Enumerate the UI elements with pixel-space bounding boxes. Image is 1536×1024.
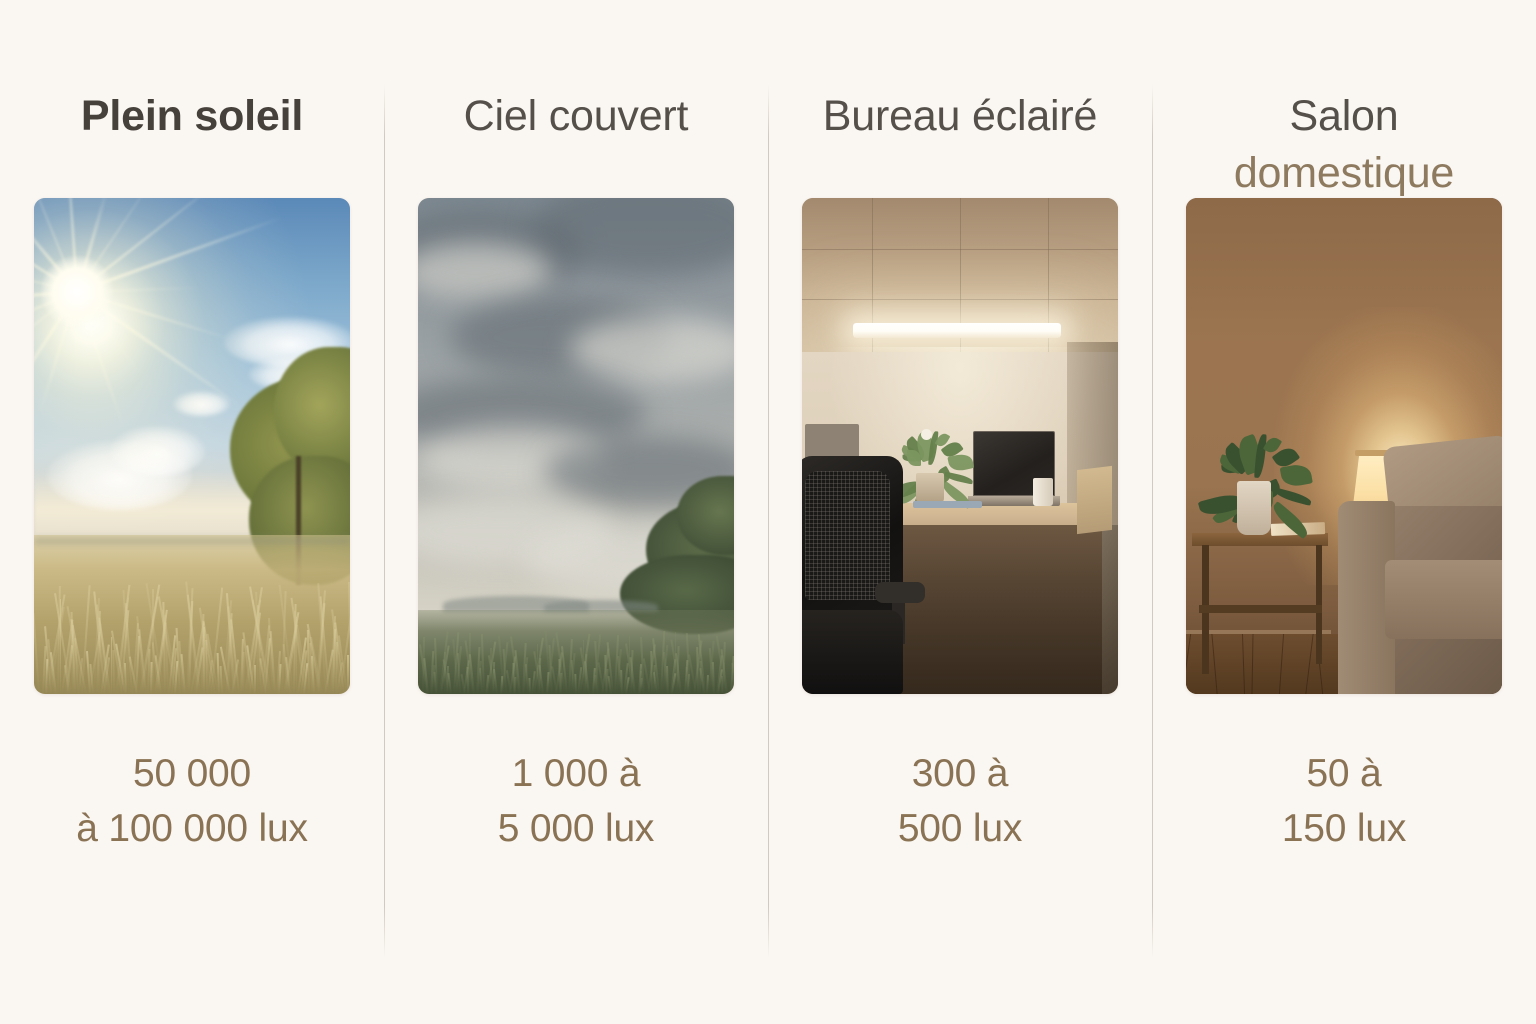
floor-plank-line xyxy=(1279,634,1284,694)
cloud-shape xyxy=(418,243,551,303)
heading-line-1: Bureau éclairé xyxy=(823,92,1097,140)
value-line-2: 5 000 lux xyxy=(498,801,655,856)
grass-blade xyxy=(574,674,576,694)
floor-plank-line xyxy=(1212,634,1218,694)
photo-bureau-eclaire xyxy=(802,198,1118,694)
grass-field xyxy=(418,610,734,694)
floor-plank-line xyxy=(1242,634,1245,694)
value-line-1: 300 à xyxy=(912,752,1009,795)
cloud-shape xyxy=(570,317,734,381)
grass-blade xyxy=(34,666,36,694)
grass-blade xyxy=(434,638,437,694)
grass-blade xyxy=(620,670,622,694)
chair-armrest xyxy=(875,582,926,603)
column-salon-domestique: Salon domestique xyxy=(1152,0,1536,1024)
floor-plank-line xyxy=(1186,634,1191,694)
heading-line-1: Salon xyxy=(1290,92,1399,140)
value-line-2: 150 lux xyxy=(1282,801,1406,856)
fluorescent-light-icon xyxy=(853,323,1062,337)
chair-seat xyxy=(802,610,903,694)
photo-plein-soleil xyxy=(34,198,350,694)
lux-value-bureau-eclaire: 300 à 500 lux xyxy=(890,746,1030,857)
grass-blade xyxy=(528,678,530,694)
column-ciel-couvert: Ciel couvert xyxy=(384,0,768,1024)
heading-line-1: Ciel couvert xyxy=(464,92,689,140)
lux-comparison-infographic: Plein soleil xyxy=(0,0,1536,1024)
grass-blade xyxy=(60,599,62,694)
distant-hills xyxy=(34,537,350,545)
value-line-1: 50 à xyxy=(1306,752,1381,795)
value-line-1: 1 000 à xyxy=(512,752,641,795)
column-heading-ciel-couvert: Ciel couvert xyxy=(384,88,768,198)
value-line-2: à 100 000 lux xyxy=(76,801,308,856)
value-line-2: 500 lux xyxy=(898,801,1022,856)
office-scene xyxy=(802,198,1118,694)
value-line-1: 50 000 xyxy=(133,752,251,795)
column-plein-soleil: Plein soleil xyxy=(0,0,384,1024)
floor-plank-line xyxy=(1306,634,1314,694)
sofa-seat xyxy=(1385,560,1502,639)
heading-line-1: Plein soleil xyxy=(81,92,303,140)
sunny-sky-scene xyxy=(34,198,350,694)
photo-salon-domestique xyxy=(1186,198,1502,694)
lux-value-ciel-couvert: 1 000 à 5 000 lux xyxy=(490,746,663,857)
overcast-sky-scene xyxy=(418,198,734,694)
grass-blade xyxy=(712,662,715,694)
floor-plank-line xyxy=(1252,634,1254,694)
column-heading-bureau-eclaire: Bureau éclairé xyxy=(768,88,1152,198)
grass-field xyxy=(34,535,350,694)
plant-leaf xyxy=(907,450,921,466)
photo-ciel-couvert xyxy=(418,198,734,694)
grass-blade xyxy=(418,678,419,694)
grass-blade xyxy=(347,655,349,694)
living-room-scene xyxy=(1186,198,1502,694)
grass-blade xyxy=(469,654,475,694)
side-table-shelf xyxy=(1199,605,1322,613)
sun-icon xyxy=(40,255,114,329)
column-heading-plein-soleil: Plein soleil xyxy=(0,88,384,198)
lux-value-salon-domestique: 50 à 150 lux xyxy=(1274,746,1414,857)
plant-pot xyxy=(1237,481,1272,536)
heading-line-2: domestique xyxy=(1164,145,1524,202)
grass-blade xyxy=(34,613,40,694)
grass-blade xyxy=(152,589,154,694)
chair-mesh-back xyxy=(805,471,890,600)
grass-blade xyxy=(666,666,668,694)
coffee-mug-icon xyxy=(1033,478,1054,506)
grass-blade xyxy=(515,650,521,694)
column-heading-salon-domestique: Salon domestique xyxy=(1152,88,1536,198)
white-flower xyxy=(921,429,932,440)
lux-value-plein-soleil: 50 000 à 100 000 lux xyxy=(68,746,316,857)
notebook xyxy=(913,501,983,509)
grass-blade xyxy=(219,666,222,694)
grass-blade xyxy=(423,658,428,694)
column-bureau-eclaire: Bureau éclairé xyxy=(768,0,1152,1024)
wooden-board xyxy=(1077,466,1112,535)
